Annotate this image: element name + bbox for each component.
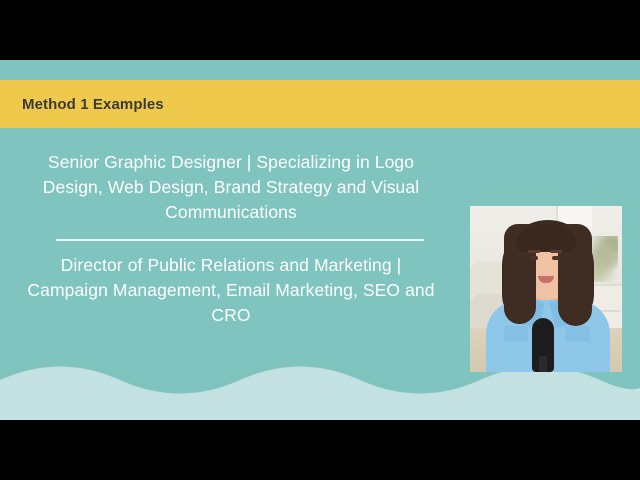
webcam-presenter-eyebrow-right bbox=[550, 250, 562, 253]
slide-canvas: Method 1 Examples Senior Graphic Designe… bbox=[0, 60, 640, 420]
letterbox-bar-top bbox=[0, 0, 640, 60]
example-item-1: Senior Graphic Designer | Specializing i… bbox=[22, 146, 440, 225]
page-title: Method 1 Examples bbox=[22, 96, 164, 113]
examples-list: Senior Graphic Designer | Specializing i… bbox=[22, 146, 440, 328]
webcam-presenter-eyebrow-left bbox=[528, 250, 540, 253]
webcam-microphone-stem bbox=[539, 356, 547, 372]
slide-root: Method 1 Examples Senior Graphic Designe… bbox=[0, 0, 640, 480]
presenter-webcam-overlay bbox=[470, 206, 622, 372]
webcam-presenter-eye-left bbox=[530, 256, 538, 260]
example-item-2: Director of Public Relations and Marketi… bbox=[22, 241, 440, 328]
webcam-presenter-eye-right bbox=[552, 256, 560, 260]
webcam-presenter-pocket-left bbox=[504, 326, 528, 342]
letterbox-bar-bottom bbox=[0, 420, 640, 480]
webcam-presenter-pocket-right bbox=[566, 326, 590, 342]
title-band: Method 1 Examples bbox=[0, 80, 640, 128]
webcam-presenter-hair-fringe bbox=[516, 226, 576, 252]
